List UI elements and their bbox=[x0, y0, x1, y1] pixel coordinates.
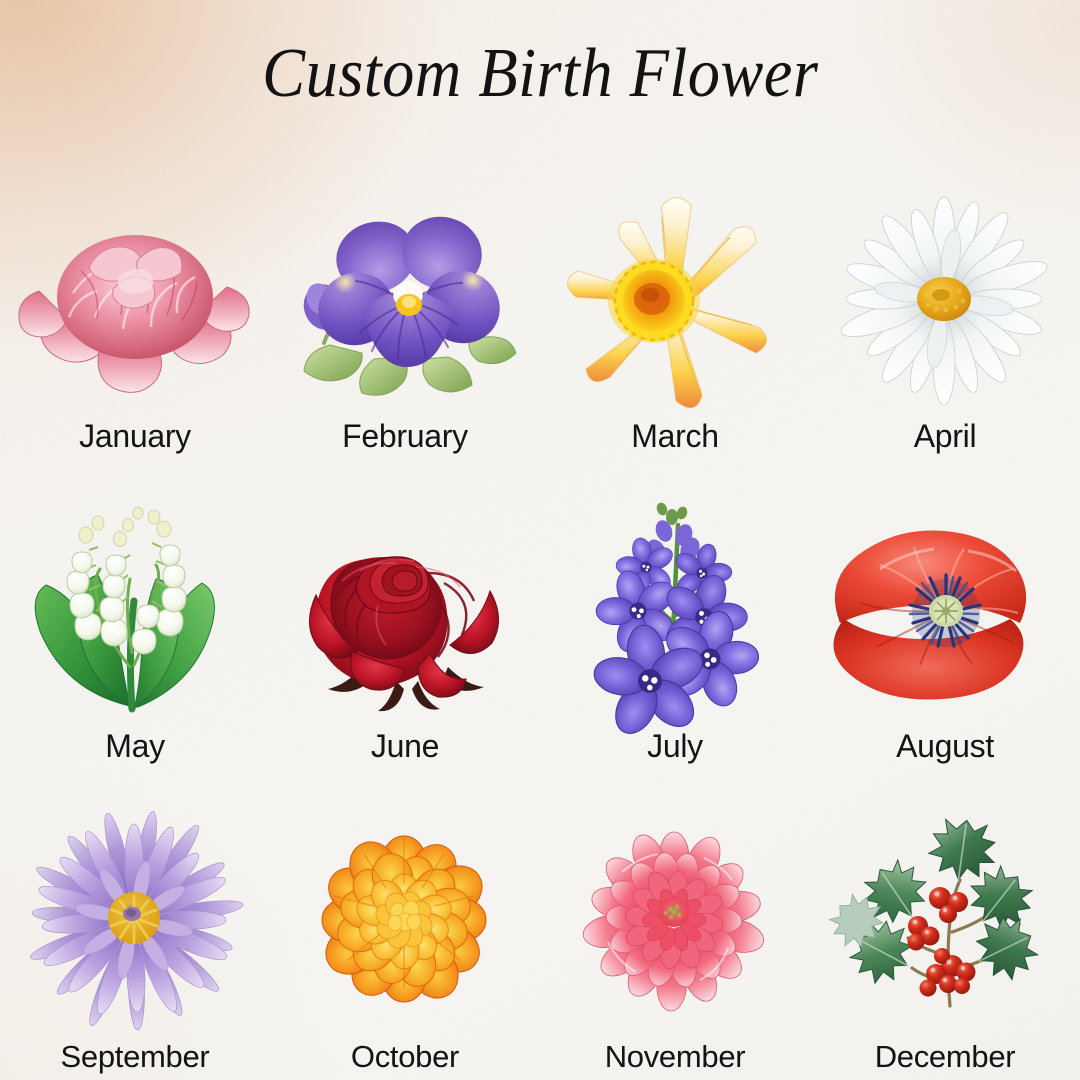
month-label: August bbox=[896, 730, 994, 762]
holly-icon bbox=[830, 816, 1060, 1031]
rose-icon bbox=[290, 505, 520, 720]
month-label: October bbox=[351, 1041, 459, 1072]
month-label: March bbox=[631, 420, 718, 452]
flower-cell-march[interactable]: March bbox=[540, 150, 810, 460]
poster-title-area: Custom Birth Flower bbox=[0, 0, 1080, 148]
month-label: November bbox=[605, 1041, 746, 1072]
month-label: February bbox=[342, 420, 468, 452]
violet-icon bbox=[290, 195, 520, 410]
flower-cell-november[interactable]: November bbox=[540, 770, 810, 1080]
lily-of-the-valley-icon bbox=[20, 505, 250, 720]
flower-cell-september[interactable]: September bbox=[0, 770, 270, 1080]
aster-icon bbox=[20, 816, 250, 1031]
month-label: April bbox=[914, 420, 977, 452]
poppy-icon bbox=[830, 505, 1060, 720]
daffodil-icon bbox=[560, 195, 790, 410]
month-label: January bbox=[79, 420, 191, 452]
flower-cell-october[interactable]: October bbox=[270, 770, 540, 1080]
flower-cell-january[interactable]: January bbox=[0, 150, 270, 460]
daisy-icon bbox=[830, 195, 1060, 410]
larkspur-icon bbox=[560, 505, 790, 720]
flower-cell-april[interactable]: April bbox=[810, 150, 1080, 460]
flower-cell-february[interactable]: February bbox=[270, 150, 540, 460]
flower-cell-may[interactable]: May bbox=[0, 460, 270, 770]
chrysanthemum-icon bbox=[560, 816, 790, 1031]
flower-cell-july[interactable]: July bbox=[540, 460, 810, 770]
birth-flower-poster: Custom Birth Flower bbox=[0, 0, 1080, 1080]
month-label: December bbox=[875, 1041, 1016, 1072]
flower-cell-august[interactable]: August bbox=[810, 460, 1080, 770]
month-label: June bbox=[371, 730, 439, 762]
month-label: May bbox=[105, 730, 165, 762]
flower-cell-december[interactable]: December bbox=[810, 770, 1080, 1080]
page-title: Custom Birth Flower bbox=[262, 34, 818, 114]
month-label: July bbox=[647, 730, 703, 762]
flower-grid: January bbox=[0, 150, 1080, 1080]
carnation-icon bbox=[20, 195, 250, 410]
marigold-icon bbox=[290, 816, 520, 1031]
month-label: September bbox=[61, 1041, 210, 1072]
flower-cell-june[interactable]: June bbox=[270, 460, 540, 770]
